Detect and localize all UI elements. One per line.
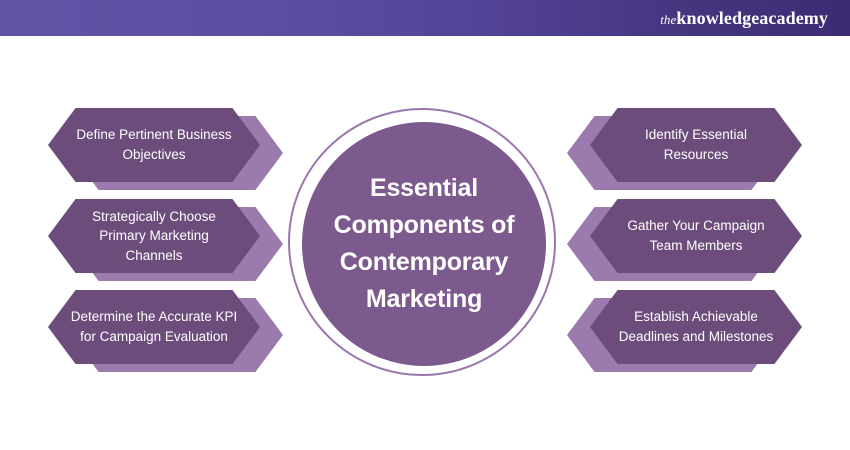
diagram-node-left-1[interactable]: Define Pertinent Business Objectives	[48, 108, 283, 190]
hexagon-shape: Gather Your Campaign Team Members	[590, 199, 802, 273]
node-label: Identify Essential Resources	[611, 125, 781, 164]
hexagon-shape: Strategically Choose Primary Marketing C…	[48, 199, 260, 273]
diagram-canvas: Essential Components of Contemporary Mar…	[0, 36, 850, 450]
center-hub-title: Essential Components of Contemporary Mar…	[317, 170, 532, 318]
hexagon-shape: Establish Achievable Deadlines and Miles…	[590, 290, 802, 364]
hexagon-shape: Identify Essential Resources	[590, 108, 802, 182]
brand-prefix-text: the	[660, 12, 676, 27]
brand-name-text: knowledgeacademy	[676, 8, 828, 28]
node-label: Establish Achievable Deadlines and Miles…	[611, 307, 781, 346]
brand-logo: theknowledgeacademy	[660, 8, 828, 29]
node-label: Determine the Accurate KPI for Campaign …	[69, 307, 239, 346]
center-hub: Essential Components of Contemporary Mar…	[288, 108, 560, 380]
top-header-bar: theknowledgeacademy	[0, 0, 850, 36]
diagram-node-right-1[interactable]: Identify Essential Resources	[567, 108, 802, 190]
hexagon-shape: Determine the Accurate KPI for Campaign …	[48, 290, 260, 364]
hexagon-shape: Define Pertinent Business Objectives	[48, 108, 260, 182]
node-label: Strategically Choose Primary Marketing C…	[69, 207, 239, 266]
diagram-node-left-2[interactable]: Strategically Choose Primary Marketing C…	[48, 199, 283, 281]
node-label: Gather Your Campaign Team Members	[611, 216, 781, 255]
diagram-node-left-3[interactable]: Determine the Accurate KPI for Campaign …	[48, 290, 283, 372]
diagram-node-right-2[interactable]: Gather Your Campaign Team Members	[567, 199, 802, 281]
center-hub-core: Essential Components of Contemporary Mar…	[302, 122, 546, 366]
node-label: Define Pertinent Business Objectives	[69, 125, 239, 164]
diagram-node-right-3[interactable]: Establish Achievable Deadlines and Miles…	[567, 290, 802, 372]
